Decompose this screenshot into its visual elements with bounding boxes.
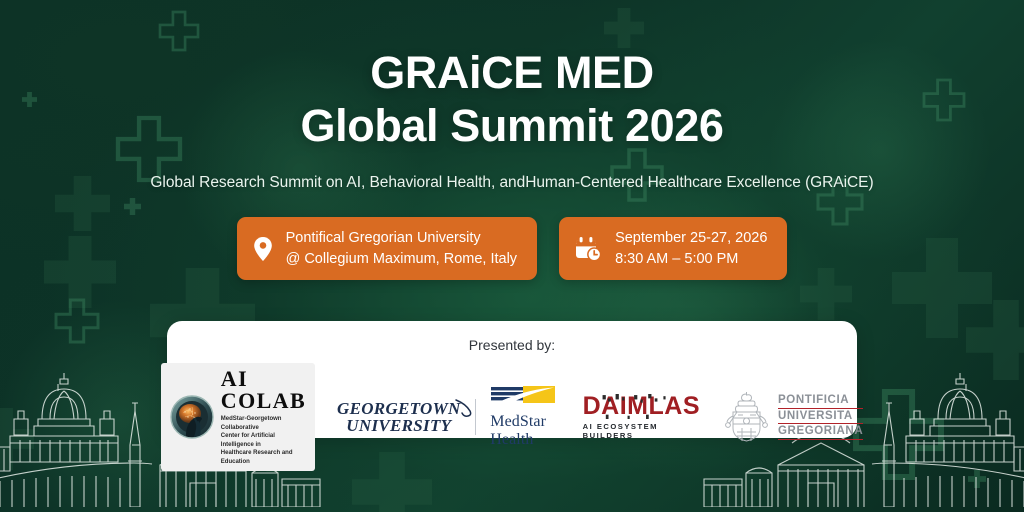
logo-georgetown-university[interactable]: GEORGETOWN UNIVERSITY (337, 400, 461, 435)
event-title-line2: Global Summit 2026 (301, 99, 724, 152)
ai-colab-tagline-2: Center for Artificial Intelligence in (221, 432, 306, 449)
ai-brain-icon (170, 395, 214, 439)
medstar-name: MedStar Health (490, 413, 556, 449)
logo-divider (475, 399, 476, 435)
ai-colab-name: AI COLAB (221, 368, 306, 412)
daimlas-tagline: AI ECOSYSTEM BUILDERS (583, 422, 700, 440)
map-pin-icon (253, 236, 273, 262)
datetime-text: September 25-27, 2026 8:30 AM – 5:00 PM (615, 228, 767, 269)
venue-pill[interactable]: Pontifical Gregorian University @ Colleg… (237, 217, 537, 280)
datetime-line1: September 25-27, 2026 (615, 228, 767, 249)
gregoriana-line1: PONTIFICIA (778, 394, 863, 409)
logo-ai-colab[interactable]: AI COLAB MedStar-Georgetown Collaborativ… (161, 363, 315, 471)
logo-medstar-health[interactable]: MedStar Health (490, 385, 556, 449)
medstar-mark-icon (490, 385, 556, 409)
gregoriana-line3: GREGORIANA (778, 425, 863, 440)
gregoriana-line2: UNIVERSITA (778, 410, 863, 425)
event-info-pills: Pontifical Gregorian University @ Colleg… (237, 217, 788, 280)
gregoriana-crest-icon (724, 392, 769, 442)
georgetown-swash-icon (454, 397, 474, 422)
ai-colab-text: AI COLAB MedStar-Georgetown Collaborativ… (221, 368, 306, 466)
logo-pontificia-universita-gregoriana[interactable]: PONTIFICIA UNIVERSITA GREGORIANA (724, 392, 863, 442)
datetime-line2: 8:30 AM – 5:00 PM (615, 249, 767, 270)
daimlas-wordmark: DAIMLAS (583, 392, 700, 420)
daimlas-name: DAIMLAS (583, 394, 700, 419)
logo-daimlas[interactable]: DAIMLAS (583, 394, 700, 440)
event-subtitle: Global Research Summit on AI, Behavioral… (150, 174, 873, 192)
venue-line2: @ Collegium Maximum, Rome, Italy (286, 249, 517, 270)
event-banner: GRAiCE MED Global Summit 2026 Global Res… (0, 0, 1024, 512)
event-title: GRAiCE MED Global Summit 2026 (301, 46, 724, 152)
partner-logos: AI COLAB MedStar-Georgetown Collaborativ… (161, 363, 863, 471)
venue-line1: Pontifical Gregorian University (286, 228, 517, 249)
ai-colab-tagline: MedStar-Georgetown Collaborative Center … (221, 415, 306, 466)
ai-colab-tagline-3: Healthcare Research and Education (221, 449, 306, 466)
presented-by-label: Presented by: (469, 337, 555, 353)
calendar-clock-icon (575, 236, 602, 262)
georgetown-line2: UNIVERSITY (337, 417, 461, 434)
gregoriana-text: PONTIFICIA UNIVERSITA GREGORIANA (778, 394, 863, 441)
event-title-line1: GRAiCE MED (370, 47, 654, 98)
georgetown-line1: GEORGETOWN (337, 400, 461, 417)
datetime-pill[interactable]: September 25-27, 2026 8:30 AM – 5:00 PM (559, 217, 787, 280)
presenters-card: Presented by: (167, 321, 857, 438)
ai-colab-tagline-1: MedStar-Georgetown Collaborative (221, 415, 306, 432)
venue-text: Pontifical Gregorian University @ Colleg… (286, 228, 517, 269)
